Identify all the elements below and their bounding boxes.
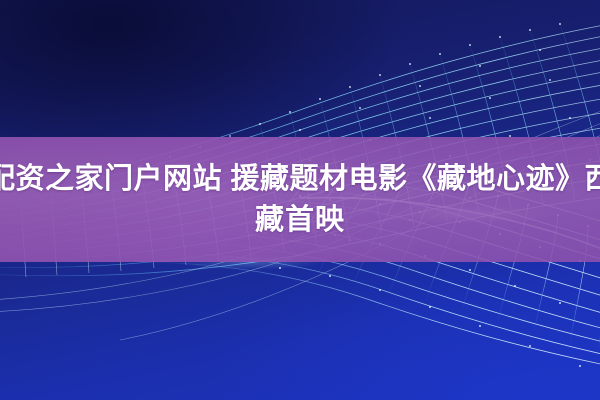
banner-image: 配资之家门户网站 援藏题材电影《藏地心迹》西 藏首映 — [0, 0, 600, 400]
headline-line-1: 配资之家门户网站 援藏题材电影《藏地心迹》西 — [0, 159, 600, 200]
headline-line-2: 藏首映 — [255, 200, 345, 241]
headline-block: 配资之家门户网站 援藏题材电影《藏地心迹》西 藏首映 — [0, 137, 600, 262]
